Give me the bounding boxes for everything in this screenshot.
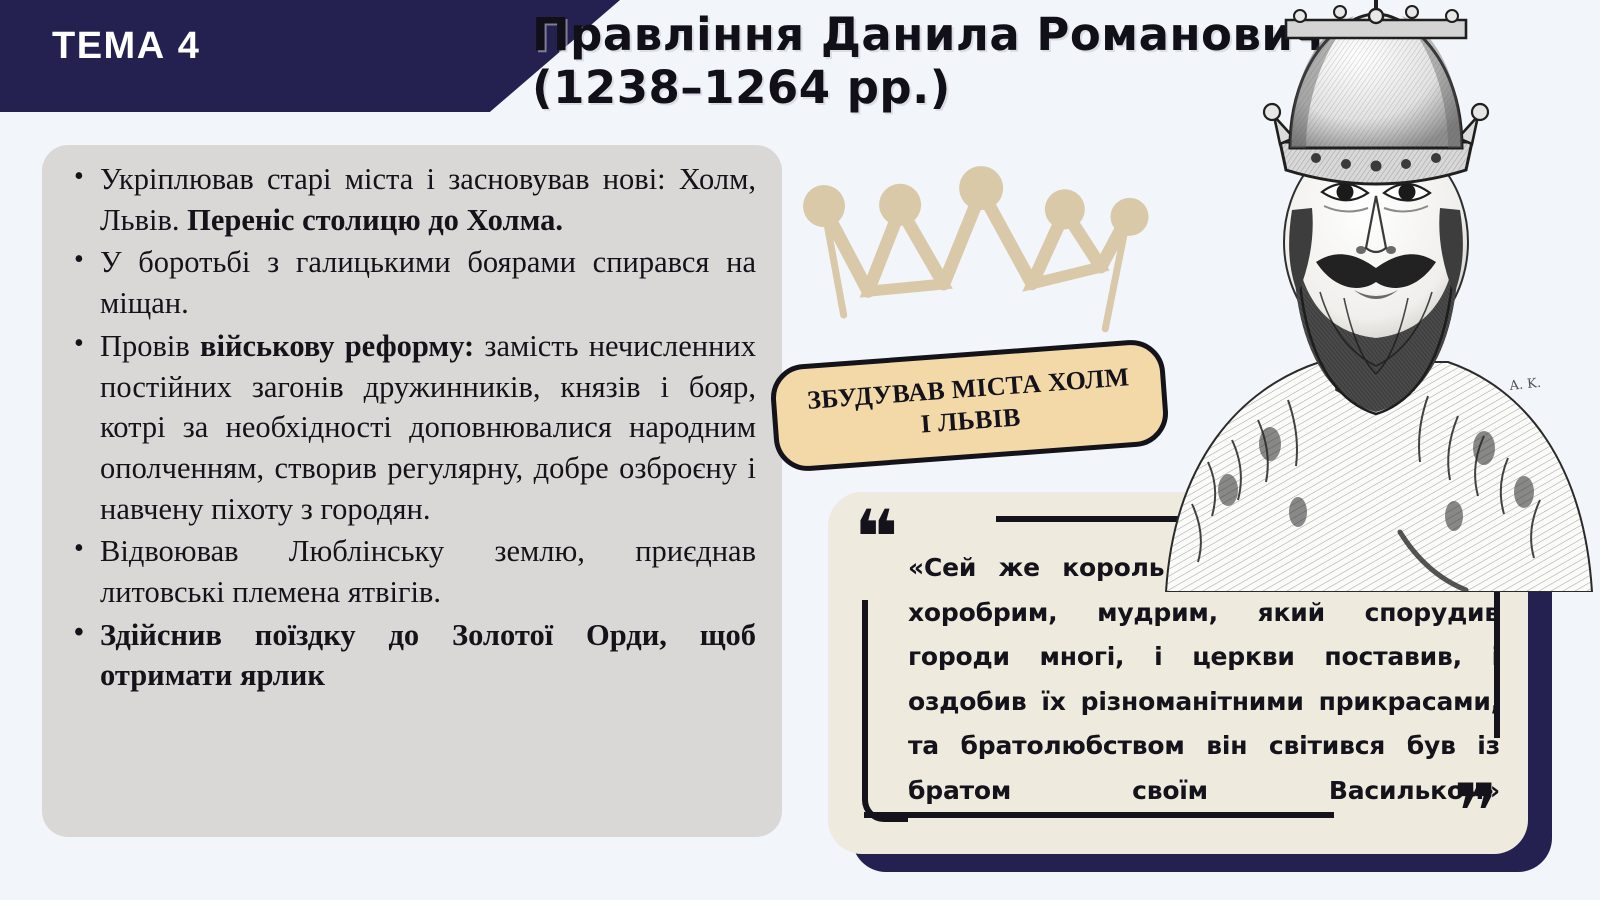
- svg-text:A. K.: A. K.: [1508, 376, 1542, 394]
- crown-icon: [793, 142, 1176, 372]
- list-item: Провів військову реформу: замість нечисл…: [64, 326, 756, 530]
- bullet-text-bold: Переніс столицю до Холма.: [187, 203, 563, 237]
- bullet-text-lead: Провів: [100, 329, 200, 363]
- list-item: Здійснив поїздку до Золотої Орди, щоб от…: [64, 615, 756, 696]
- quote-text: «Сей же король був князем добрим, хоробр…: [908, 546, 1500, 858]
- badge-label: ЗБУДУВАВ МІСТА ХОЛМ І ЛЬВІВ: [801, 361, 1138, 449]
- quote-open-icon: ❝: [854, 510, 899, 566]
- bullet-text-bold: військову реформу:: [200, 329, 474, 363]
- list-item: Укріплював старі міста і засновував нові…: [64, 159, 756, 240]
- facts-list: Укріплював старі міста і засновував нові…: [64, 159, 756, 696]
- king-portrait-illustration: A. K.: [1148, 0, 1600, 592]
- bullet-text: Здійснив поїздку до Золотої Орди, щоб от…: [100, 618, 756, 693]
- quote-close-icon: ❞: [1453, 784, 1498, 840]
- quote-frame-left: [862, 600, 908, 822]
- bullet-text: У боротьбі з галицькими боярами спирався…: [100, 245, 756, 320]
- facts-panel: Укріплював старі міста і засновував нові…: [42, 145, 782, 837]
- topic-label: ТЕМА 4: [52, 25, 200, 68]
- list-item: У боротьбі з галицькими боярами спирався…: [64, 242, 756, 323]
- bullet-text: Відвоював Люблінську землю, приєднав лит…: [100, 534, 756, 609]
- list-item: Відвоював Люблінську землю, приєднав лит…: [64, 531, 756, 612]
